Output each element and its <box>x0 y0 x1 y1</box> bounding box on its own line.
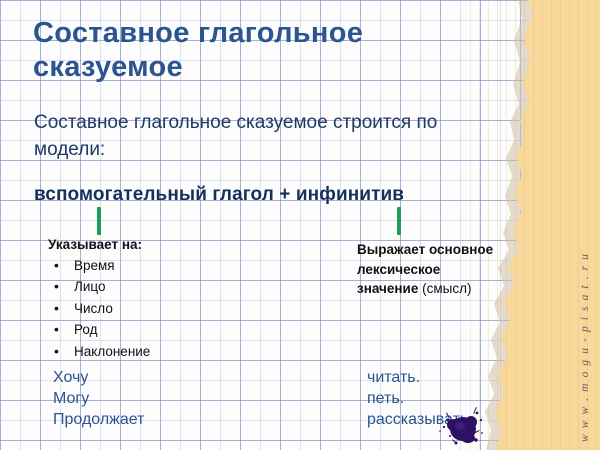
right-column-line-3-light: (смысл) <box>422 281 471 296</box>
slide-canvas: Составное глагольное сказуемое Составное… <box>0 0 600 450</box>
green-tick-left-icon <box>97 207 101 235</box>
green-tick-right-icon <box>397 207 401 235</box>
right-column-line-1: Выражает основное <box>357 240 517 260</box>
left-column-bullet-list: Время Лицо Число Род Наклонение <box>48 259 278 359</box>
lead-paragraph: Составное глагольное сказуемое строится … <box>34 110 474 164</box>
ink-blot-icon <box>432 400 488 448</box>
list-item: Число <box>48 302 278 316</box>
page-title: Составное глагольное сказуемое <box>33 16 463 84</box>
list-item: Род <box>48 323 278 337</box>
right-column: Выражает основное лексическое значение (… <box>357 240 517 299</box>
example-auxiliary: Могу <box>53 388 144 409</box>
right-column-line-2: лексическое <box>357 260 517 280</box>
examples-auxiliary-column: Хочу Могу Продолжает <box>53 367 144 430</box>
example-auxiliary: Продолжает <box>53 409 144 430</box>
list-item: Наклонение <box>48 345 278 359</box>
ink-blot-shape <box>432 400 488 448</box>
right-column-line-3: значение (смысл) <box>357 279 517 299</box>
example-auxiliary: Хочу <box>53 367 144 388</box>
formula-text: вспомогательный глагол + инфинитив <box>34 184 504 206</box>
left-column-heading: Указывает на: <box>48 238 278 252</box>
left-column: Указывает на: Время Лицо Число Род Накло… <box>48 238 278 366</box>
list-item: Лицо <box>48 280 278 294</box>
list-item: Время <box>48 259 278 273</box>
right-column-line-3-bold: значение <box>357 281 418 296</box>
example-infinitive: читать. <box>367 367 473 388</box>
watermark-text: w w w . m o g u - p i s a t . r u <box>579 252 591 442</box>
watermark: w w w . m o g u - p i s a t . r u <box>572 252 598 442</box>
